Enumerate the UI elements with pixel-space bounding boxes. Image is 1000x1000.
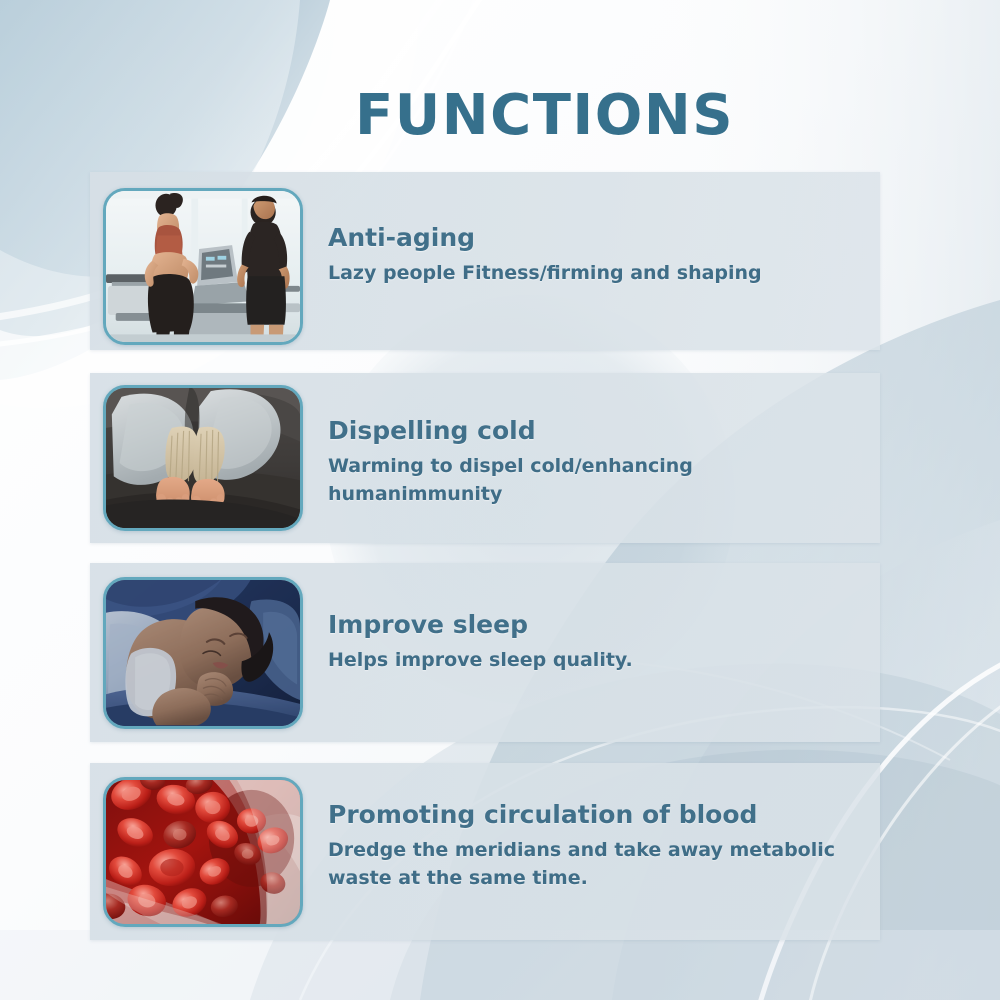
feature-description-line: Dredge the meridians and take away metab… [328, 837, 868, 865]
feature-headline: Dispelling cold [328, 415, 868, 446]
gym-treadmill-image [106, 191, 300, 342]
red-blood-cells-image [106, 780, 300, 924]
feature-copy: Promoting circulation of blood Dredge th… [328, 799, 868, 892]
feature-headline: Anti-aging [328, 222, 868, 253]
feature-row-anti-aging[interactable]: Anti-aging Lazy people Fitness/firming a… [90, 172, 880, 350]
feature-description: Helps improve sleep quality. [328, 647, 868, 675]
feature-description: Lazy people Fitness/firming and shaping [328, 260, 868, 288]
feature-description: Dredge the meridians and take away metab… [328, 837, 868, 892]
feature-copy: Dispelling cold Warming to dispel cold/e… [328, 415, 868, 508]
feature-row-blood-circulation[interactable]: Promoting circulation of blood Dredge th… [90, 763, 880, 940]
cold-feet-on-couch-image [106, 388, 300, 528]
gym-treadmill-photo [103, 188, 303, 345]
feature-headline: Improve sleep [328, 609, 868, 640]
feature-description-line: Helps improve sleep quality. [328, 647, 868, 675]
feature-row-dispelling-cold[interactable]: Dispelling cold Warming to dispel cold/e… [90, 373, 880, 543]
feature-description: Warming to dispel cold/enhancing humanim… [328, 453, 868, 508]
red-blood-cells-photo [103, 777, 303, 927]
feature-description-line: waste at the same time. [328, 865, 868, 893]
feature-copy: Anti-aging Lazy people Fitness/firming a… [328, 222, 868, 288]
feature-headline: Promoting circulation of blood [328, 799, 868, 830]
woman-sleeping-photo [103, 577, 303, 729]
feature-list: Anti-aging Lazy people Fitness/firming a… [0, 0, 1000, 1000]
feature-copy: Improve sleep Helps improve sleep qualit… [328, 609, 868, 675]
feature-description-line: Lazy people Fitness/firming and shaping [328, 260, 868, 288]
feature-row-improve-sleep[interactable]: Improve sleep Helps improve sleep qualit… [90, 563, 880, 742]
functions-poster: FUNCTIONS [0, 0, 1000, 1000]
feature-description-line: Warming to dispel cold/enhancing humanim… [328, 453, 868, 508]
cold-feet-on-couch-photo [103, 385, 303, 531]
woman-sleeping-image [106, 580, 300, 726]
